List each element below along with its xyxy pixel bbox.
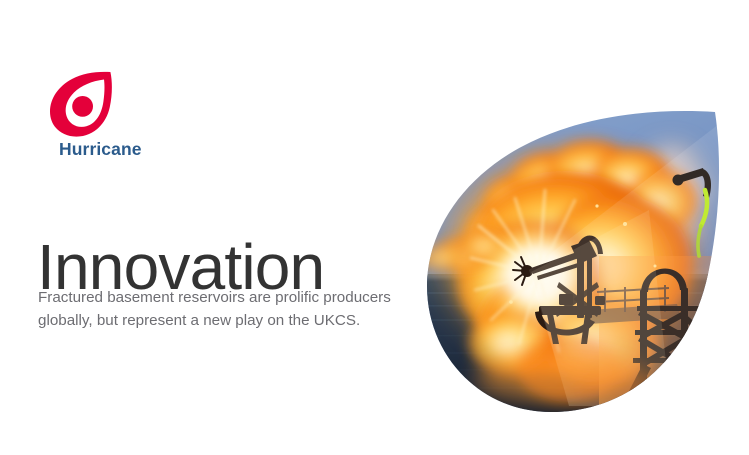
page-subtitle: Fractured basement reservoirs are prolif… xyxy=(38,286,410,332)
hero-banner: Hurricane Innovation Fractured basement … xyxy=(0,0,749,455)
hurricane-droplet-logo-icon xyxy=(48,70,114,138)
artwork-alt-text: Gas flare burning from an offshore oil p… xyxy=(419,420,420,421)
flare-droplet-artwork: Gas flare burning from an offshore oil p… xyxy=(419,106,731,420)
brand-lockup[interactable]: Hurricane xyxy=(37,70,177,168)
brand-wordmark: Hurricane xyxy=(59,141,142,159)
flare-droplet-image xyxy=(419,106,731,420)
hero-text-column: Hurricane Innovation Fractured basement … xyxy=(37,70,429,168)
